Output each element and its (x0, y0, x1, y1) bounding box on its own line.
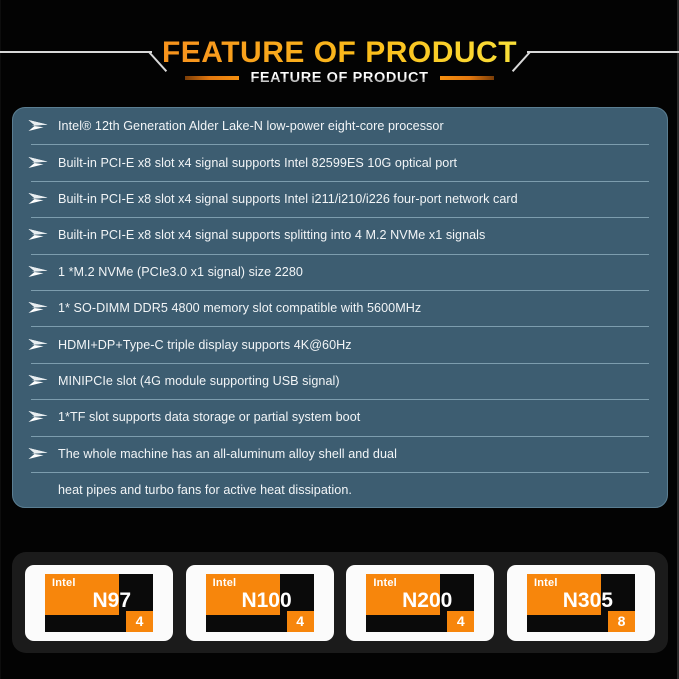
feature-row: Intel® 12th Generation Alder Lake-N low-… (13, 108, 667, 144)
feature-row: heat pipes and turbo fans for active hea… (13, 472, 667, 508)
cpu-core-count-badge: 8 (608, 611, 635, 632)
feature-row: 1 *M.2 NVMe (PCIe3.0 x1 signal) size 228… (13, 254, 667, 290)
feature-text: Built-in PCI-E x8 slot x4 signal support… (58, 228, 485, 242)
feature-list: Intel® 12th Generation Alder Lake-N low-… (13, 108, 667, 508)
arrow-bullet-icon (27, 262, 51, 280)
subtitle-dash-right (440, 76, 494, 80)
cpu-model-label: N100 (206, 588, 292, 614)
feature-row: Built-in PCI-E x8 slot x4 signal support… (13, 144, 667, 180)
arrow-bullet-icon (27, 116, 51, 134)
arrow-bullet-icon (27, 225, 51, 243)
arrow-bullet-icon (27, 153, 51, 171)
feature-row: The whole machine has an all-aluminum al… (13, 436, 667, 472)
feature-row: Built-in PCI-E x8 slot x4 signal support… (13, 181, 667, 217)
feature-text: MINIPCIe slot (4G module supporting USB … (58, 374, 340, 388)
feature-text: Built-in PCI-E x8 slot x4 signal support… (58, 192, 518, 206)
intel-logo-icon: IntelN2004 (366, 574, 474, 632)
cpu-model-label: N305 (527, 588, 613, 614)
feature-row: HDMI+DP+Type-C triple display supports 4… (13, 326, 667, 362)
feature-text: 1 *M.2 NVMe (PCIe3.0 x1 signal) size 228… (58, 265, 303, 279)
feature-panel: Intel® 12th Generation Alder Lake-N low-… (12, 107, 668, 508)
arrow-bullet-icon (27, 407, 51, 425)
feature-row: MINIPCIe slot (4G module supporting USB … (13, 363, 667, 399)
header-subtitle-row: FEATURE OF PRODUCT (0, 70, 679, 86)
feature-text: heat pipes and turbo fans for active hea… (58, 483, 352, 497)
arrow-bullet-icon (27, 189, 51, 207)
product-feature-page: FEATURE OF PRODUCT FEATURE OF PRODUCT In… (0, 0, 679, 679)
cpu-badge-card[interactable]: IntelN1004 (186, 565, 334, 641)
header-banner: FEATURE OF PRODUCT FEATURE OF PRODUCT (0, 0, 679, 100)
arrow-bullet-icon (27, 444, 51, 462)
page-subtitle: FEATURE OF PRODUCT (250, 70, 428, 86)
cpu-badge-card[interactable]: IntelN2004 (346, 565, 494, 641)
feature-text: Intel® 12th Generation Alder Lake-N low-… (58, 119, 444, 133)
subtitle-dash-left (185, 76, 239, 80)
feature-text: HDMI+DP+Type-C triple display supports 4… (58, 338, 352, 352)
feature-text: Built-in PCI-E x8 slot x4 signal support… (58, 156, 457, 170)
cpu-model-label: N200 (366, 588, 452, 614)
arrow-bullet-icon (27, 335, 51, 353)
intel-logo-icon: IntelN1004 (206, 574, 314, 632)
cpu-core-count-badge: 4 (287, 611, 314, 632)
feature-text: 1* SO-DIMM DDR5 4800 memory slot compati… (58, 301, 421, 315)
frame-left-border (0, 0, 1, 679)
arrow-bullet-icon (27, 298, 51, 316)
cpu-core-count-badge: 4 (447, 611, 474, 632)
arrow-bullet-icon (27, 371, 51, 389)
cpu-badge-strip: IntelN974IntelN1004IntelN2004IntelN3058 (12, 552, 668, 653)
feature-row: 1* SO-DIMM DDR5 4800 memory slot compati… (13, 290, 667, 326)
page-title: FEATURE OF PRODUCT (0, 36, 679, 70)
feature-row: 1*TF slot supports data storage or parti… (13, 399, 667, 435)
intel-logo-icon: IntelN3058 (527, 574, 635, 632)
cpu-badge-card[interactable]: IntelN974 (25, 565, 173, 641)
intel-logo-icon: IntelN974 (45, 574, 153, 632)
feature-text: 1*TF slot supports data storage or parti… (58, 410, 360, 424)
cpu-badge-card[interactable]: IntelN3058 (507, 565, 655, 641)
feature-text: The whole machine has an all-aluminum al… (58, 447, 397, 461)
cpu-model-label: N97 (45, 588, 131, 614)
cpu-core-count-badge: 4 (126, 611, 153, 632)
bullet-spacer (27, 481, 51, 499)
feature-row: Built-in PCI-E x8 slot x4 signal support… (13, 217, 667, 253)
